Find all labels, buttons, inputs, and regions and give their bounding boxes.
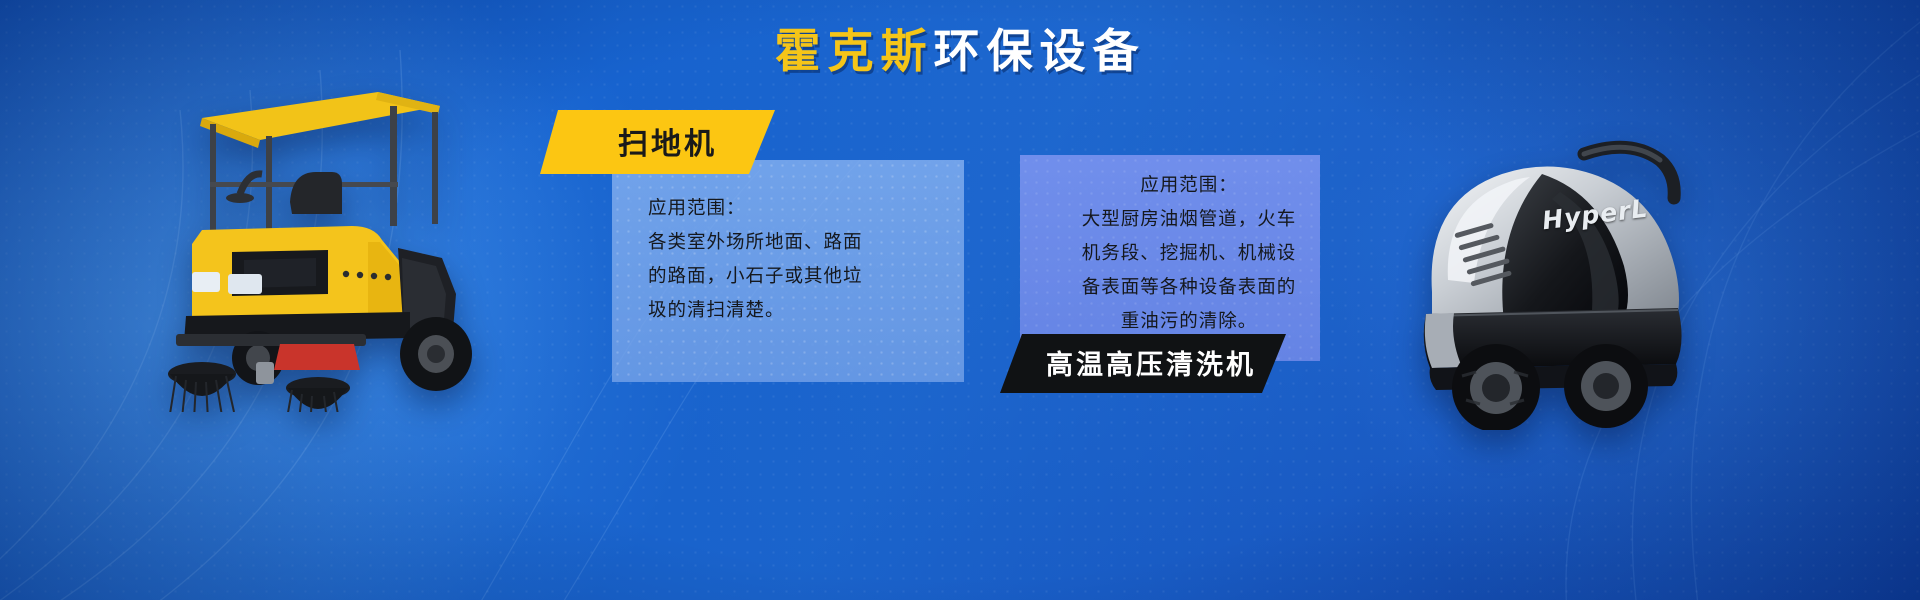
sweeper-description-panel: 应用范围： 各类室外场所地面、路面 的路面，小石子或其他垃 圾的清扫清楚。: [612, 160, 964, 382]
washer-line-3: 备表面等各种设备表面的: [1044, 271, 1320, 305]
tag-sweeper[interactable]: 扫地机: [540, 110, 775, 174]
washer-line-1: 大型厨房油烟管道，火车: [1044, 203, 1320, 237]
pressure-washer-photo: [1370, 100, 1750, 430]
washer-description-panel: 应用范围： 大型厨房油烟管道，火车 机务段、挖掘机、机械设 备表面等各种设备表面…: [1020, 155, 1320, 361]
washer-line-4: 重油污的清除。: [1044, 305, 1320, 339]
sweeper-line-1: 各类室外场所地面、路面: [648, 226, 964, 260]
title-rest: 环保设备: [934, 24, 1146, 78]
title-highlight: 霍克斯: [775, 24, 934, 78]
sweeper-line-2: 的路面，小石子或其他垃: [648, 260, 964, 294]
banner-title: 霍克斯环保设备: [0, 28, 1920, 74]
washer-lead: 应用范围：: [1044, 169, 1320, 203]
washer-line-2: 机务段、挖掘机、机械设: [1044, 237, 1320, 271]
promo-banner: 霍克斯环保设备: [0, 0, 1920, 600]
washer-description-text: 应用范围： 大型厨房油烟管道，火车 机务段、挖掘机、机械设 备表面等各种设备表面…: [1020, 155, 1320, 339]
sweeper-description-text: 应用范围： 各类室外场所地面、路面 的路面，小石子或其他垃 圾的清扫清楚。: [612, 160, 964, 328]
sweeper-lead: 应用范围：: [648, 192, 964, 226]
sweeper-line-3: 圾的清扫清楚。: [648, 294, 964, 328]
tag-pressure-washer[interactable]: 高温高压清洗机: [1000, 334, 1286, 393]
road-sweeper-photo: [140, 62, 550, 412]
